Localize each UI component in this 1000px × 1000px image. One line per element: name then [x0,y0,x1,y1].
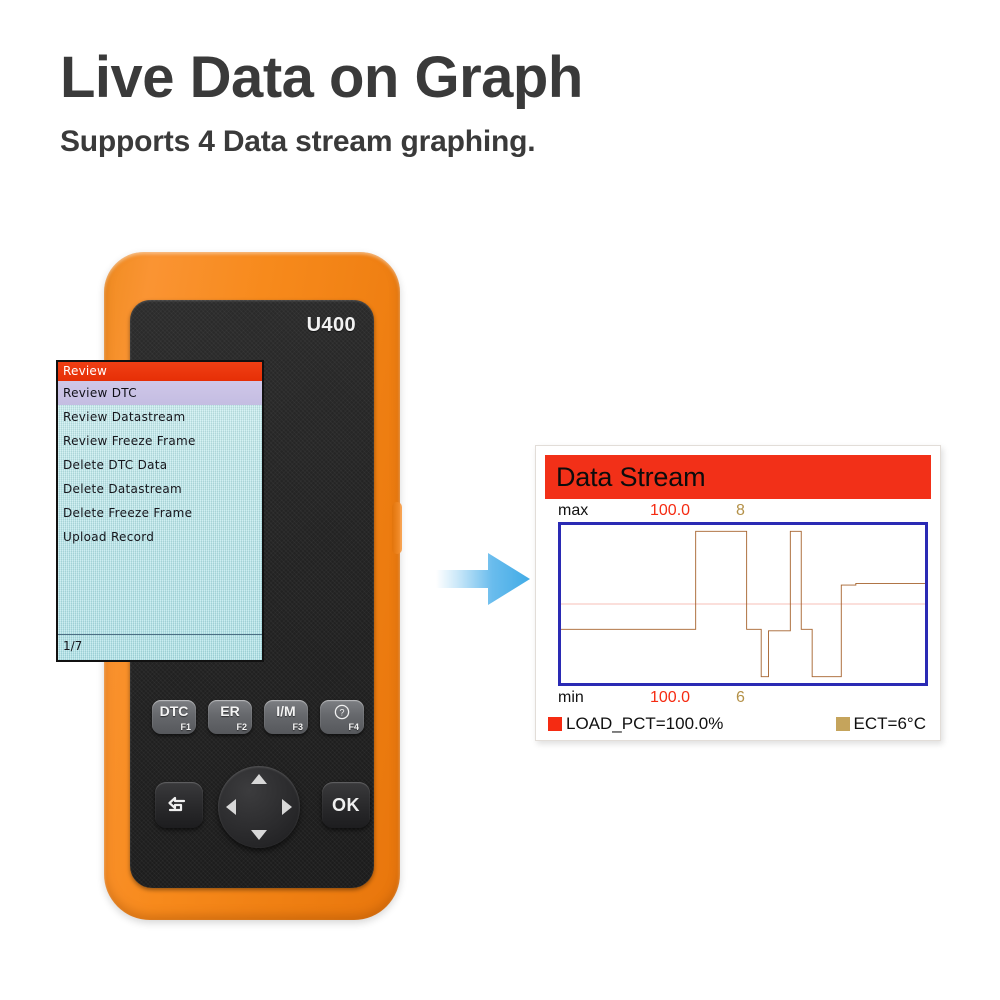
help-button[interactable]: ? F4 [320,700,364,734]
data-stream-plot [558,522,928,686]
dpad-right-icon[interactable] [282,799,292,815]
lcd-menu-item-review-freeze-frame[interactable]: Review Freeze Frame [58,429,262,453]
lcd-menu-item-review-datastream[interactable]: Review Datastream [58,405,262,429]
data-stream-title: Data Stream [556,462,705,493]
im-button-fkey: F3 [292,722,303,732]
device-model-label: U400 [307,314,356,337]
max-label: max [558,502,650,520]
lcd-page-indicator: 1/7 [63,639,82,653]
data-stream-header: Data Stream [545,455,931,499]
er-button[interactable]: ER F2 [208,700,252,734]
load-color-swatch-icon [548,717,562,731]
page-subtitle: Supports 4 Data stream graphing. [60,125,940,159]
dpad-control[interactable] [218,766,300,848]
max-load-value: 100.0 [650,502,736,520]
dpad-down-icon[interactable] [251,830,267,840]
ok-button[interactable]: OK [322,782,370,828]
ect-color-swatch-icon [836,717,850,731]
device-grip-right [392,502,402,554]
page-heading-block: Live Data on Graph Supports 4 Data strea… [60,48,940,159]
dtc-button-fkey: F1 [180,722,191,732]
help-button-fkey: F4 [348,722,359,732]
lcd-menu-item-upload-record[interactable]: Upload Record [58,525,262,549]
flow-arrow [436,548,532,610]
ok-button-label: OK [322,782,370,828]
lcd-footer: 1/7 [58,634,262,660]
question-mark-icon: ? [320,704,364,724]
lcd-menu-item-delete-freeze-frame[interactable]: Delete Freeze Frame [58,501,262,525]
data-stream-legend: LOAD_PCT=100.0% ECT=6°C [536,709,940,735]
dpad-left-icon[interactable] [226,799,236,815]
legend-item-ect: ECT=6°C [836,714,926,734]
device-lcd-screen: Review Review DTC Review Datastream Revi… [58,362,262,660]
dtc-button-label: DTC [152,704,196,719]
min-label: min [558,689,650,707]
min-load-value: 100.0 [650,689,736,707]
er-button-fkey: F2 [236,722,247,732]
im-button[interactable]: I/M F3 [264,700,308,734]
legend-label-load: LOAD_PCT=100.0% [566,714,723,734]
max-value-row: max 100.0 8 [536,499,940,522]
lcd-menu-list[interactable]: Review DTC Review Datastream Review Free… [58,381,262,549]
dpad-up-icon[interactable] [251,774,267,784]
dtc-button[interactable]: DTC F1 [152,700,196,734]
data-stream-panel: Data Stream max 100.0 8 min 100.0 6 LOAD… [535,445,941,741]
lcd-menu-item-delete-datastream[interactable]: Delete Datastream [58,477,262,501]
max-ect-value: 8 [736,502,745,520]
page-title: Live Data on Graph [60,48,940,109]
legend-item-load: LOAD_PCT=100.0% [548,714,723,734]
legend-label-ect: ECT=6°C [854,714,926,734]
lcd-menu-item-delete-dtc-data[interactable]: Delete DTC Data [58,453,262,477]
im-button-label: I/M [264,704,308,719]
min-ect-value: 6 [736,689,745,707]
back-arrow-icon [155,782,203,828]
lcd-title-bar: Review [58,362,262,381]
lcd-menu-item-review-dtc[interactable]: Review DTC [58,381,262,405]
min-value-row: min 100.0 6 [536,686,940,709]
er-button-label: ER [208,704,252,719]
back-button[interactable] [155,782,203,828]
svg-text:?: ? [339,707,344,717]
